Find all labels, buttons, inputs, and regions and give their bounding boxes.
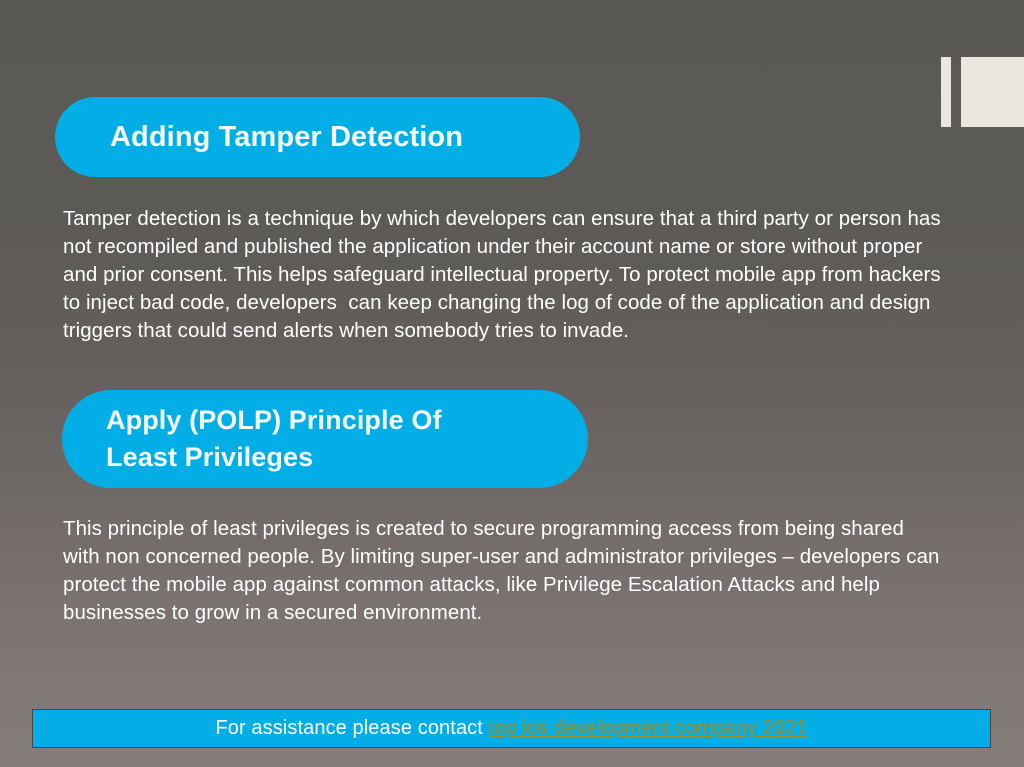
section-heading-line: Least Privileges xyxy=(106,439,588,476)
presentation-slide: Adding Tamper Detection Tamper detection… xyxy=(0,0,1024,767)
footer-contact-bar: For assistance please contact top ios de… xyxy=(32,709,991,748)
footer-link[interactable]: top ios development company 2021 xyxy=(489,717,808,739)
decorative-vertical-bar xyxy=(941,57,951,127)
section-heading-line: Adding Tamper Detection xyxy=(110,118,580,156)
footer-text: For assistance please contact top ios de… xyxy=(215,717,807,740)
footer-prefix-label: For assistance please contact xyxy=(215,717,488,739)
section-body-least-privileges: This principle of least privileges is cr… xyxy=(63,515,943,627)
section-heading-badge-tamper-detection: Adding Tamper Detection xyxy=(55,97,580,177)
section-heading-badge-least-privileges: Apply (POLP) Principle Of Least Privileg… xyxy=(62,390,588,488)
section-body-tamper-detection: Tamper detection is a technique by which… xyxy=(63,205,943,345)
decorative-corner-blocks xyxy=(941,57,1024,127)
section-heading-line: Apply (POLP) Principle Of xyxy=(106,402,588,439)
decorative-square-block xyxy=(961,57,1024,127)
